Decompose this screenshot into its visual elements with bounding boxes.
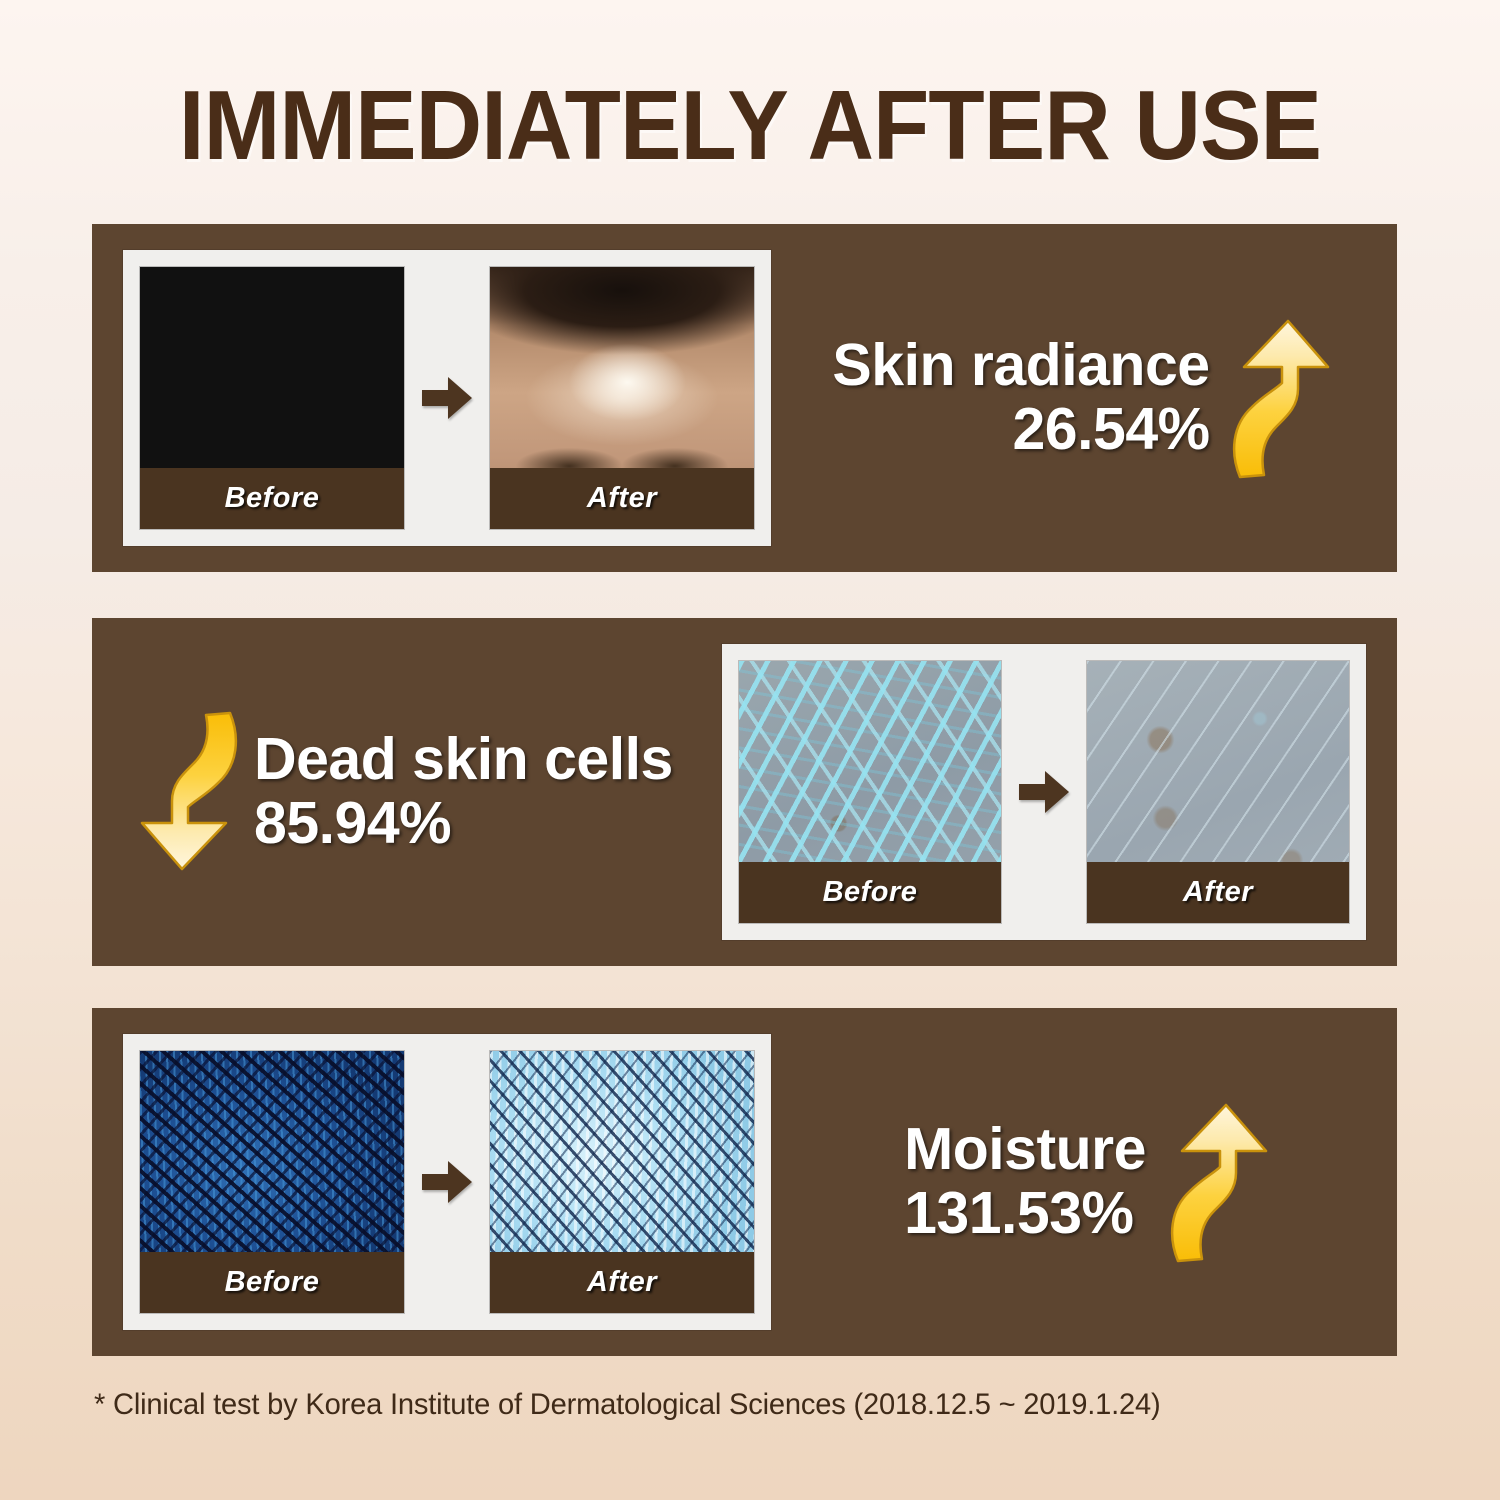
arrow-up-icon [1162,1099,1270,1265]
transition-arrow-icon [404,1158,490,1206]
stat-dead-skin-cells: Dead skin cells 85.94% [92,709,722,875]
before-caption: Before [140,468,404,529]
before-after-group-moisture: Before After [123,1034,771,1330]
arrow-up-icon [1224,315,1332,481]
panel-skin-radiance: Before After Skin radiance 26.54% [92,224,1397,572]
after-caption: After [490,1252,754,1313]
stat-value-skin-radiance: 26.54% [832,396,1209,462]
after-caption: After [1087,862,1349,923]
panel-dead-skin-cells: Dead skin cells 85.94% Before After [92,618,1397,966]
before-photo-skin-radiance: Before [140,267,404,529]
transition-arrow-icon [1001,768,1087,816]
infographic-page: IMMEDIATELY AFTER USE Before After Skin … [0,0,1500,1500]
stat-text-skin-radiance: Skin radiance 26.54% [832,334,1209,463]
stat-text-moisture: Moisture 131.53% [904,1118,1146,1247]
stat-text-dead-skin-cells: Dead skin cells 85.94% [254,728,673,857]
after-photo-moisture: After [490,1051,754,1313]
stat-skin-radiance: Skin radiance 26.54% [771,315,1397,481]
transition-arrow-icon [404,374,490,422]
before-after-group-skin-radiance: Before After [123,250,771,546]
arrow-down-icon [138,709,246,875]
stat-moisture: Moisture 131.53% [771,1099,1397,1265]
footnote-clinical-test: * Clinical test by Korea Institute of De… [94,1388,1160,1422]
after-photo-dead-skin-cells: After [1087,661,1349,923]
after-caption: After [490,468,754,529]
stat-label-moisture: Moisture [904,1118,1146,1181]
before-photo-moisture: Before [140,1051,404,1313]
before-caption: Before [739,862,1001,923]
before-after-group-dead-skin-cells: Before After [722,644,1366,940]
before-photo-dead-skin-cells: Before [739,661,1001,923]
stat-value-moisture: 131.53% [904,1180,1146,1246]
after-photo-skin-radiance: After [490,267,754,529]
stat-label-dead-skin-cells: Dead skin cells [254,728,673,791]
page-title: IMMEDIATELY AFTER USE [45,76,1455,174]
stat-value-dead-skin-cells: 85.94% [254,790,673,856]
panel-moisture: Before After Moisture 131.53% [92,1008,1397,1356]
stat-label-skin-radiance: Skin radiance [832,334,1209,397]
before-caption: Before [140,1252,404,1313]
